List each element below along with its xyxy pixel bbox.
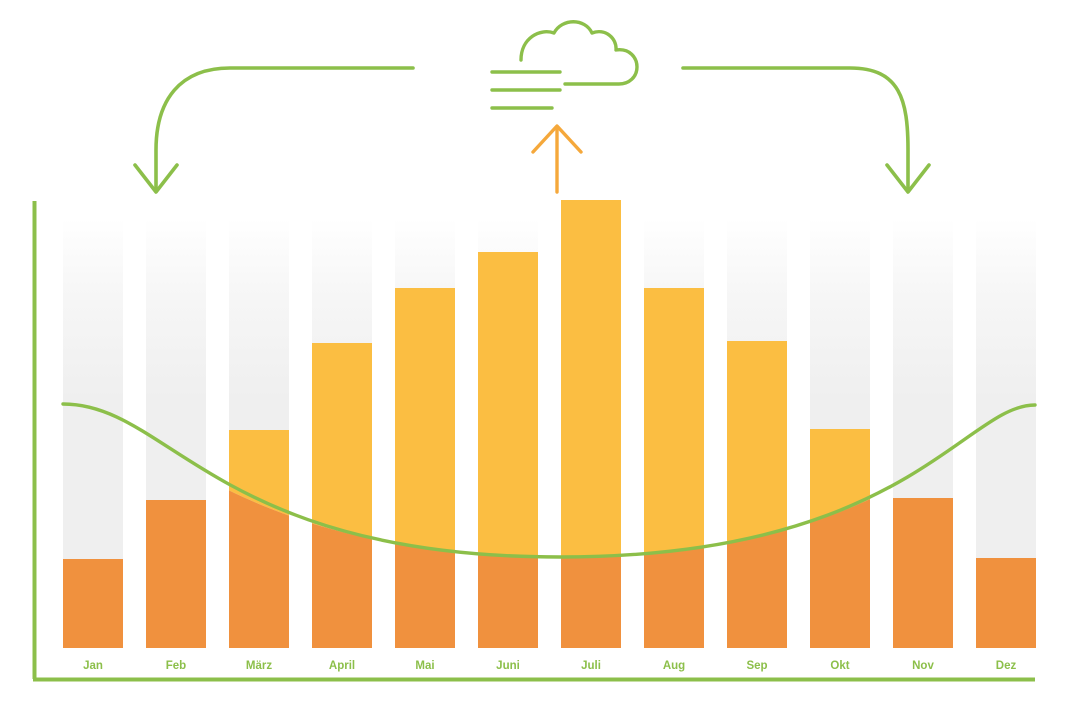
month-label-juli: Juli xyxy=(581,660,601,672)
month-label-april: April xyxy=(329,660,355,672)
x-axis-tick-labels: Jan Feb März April Mai Juni Juli Aug Sep… xyxy=(83,660,1016,672)
bar-jan-orange[interactable] xyxy=(63,559,123,648)
month-label-aug: Aug xyxy=(663,660,685,672)
capacity-tracks xyxy=(63,218,1036,648)
curved-arrow-down-right-icon xyxy=(683,68,929,192)
bars-above-threshold xyxy=(63,200,1036,648)
month-label-sep: Sep xyxy=(746,660,767,672)
threshold-curve xyxy=(63,404,1035,557)
cloud-icon xyxy=(521,22,637,84)
curved-arrow-down-left-icon xyxy=(135,68,413,192)
month-label-maerz: März xyxy=(246,660,272,672)
month-label-juni: Juni xyxy=(496,660,520,672)
bar-dez-orange[interactable] xyxy=(976,558,1036,648)
month-label-nov: Nov xyxy=(912,660,934,672)
upload-arrow-icon xyxy=(533,126,581,192)
bar-nov-orange[interactable] xyxy=(893,498,953,648)
month-label-jan: Jan xyxy=(83,660,103,672)
seasonal-bar-chart: Jan Feb März April Mai Juni Juli Aug Sep… xyxy=(0,0,1070,714)
month-label-feb: Feb xyxy=(166,660,186,672)
chart-canvas: Jan Feb März April Mai Juni Juli Aug Sep… xyxy=(0,0,1070,714)
wind-lines-icon xyxy=(492,72,560,108)
month-label-mai: Mai xyxy=(415,660,434,672)
month-label-dez: Dez xyxy=(996,660,1017,672)
month-label-okt: Okt xyxy=(830,660,849,672)
bars-below-threshold xyxy=(63,200,1036,648)
bar-feb-orange[interactable] xyxy=(146,500,206,648)
